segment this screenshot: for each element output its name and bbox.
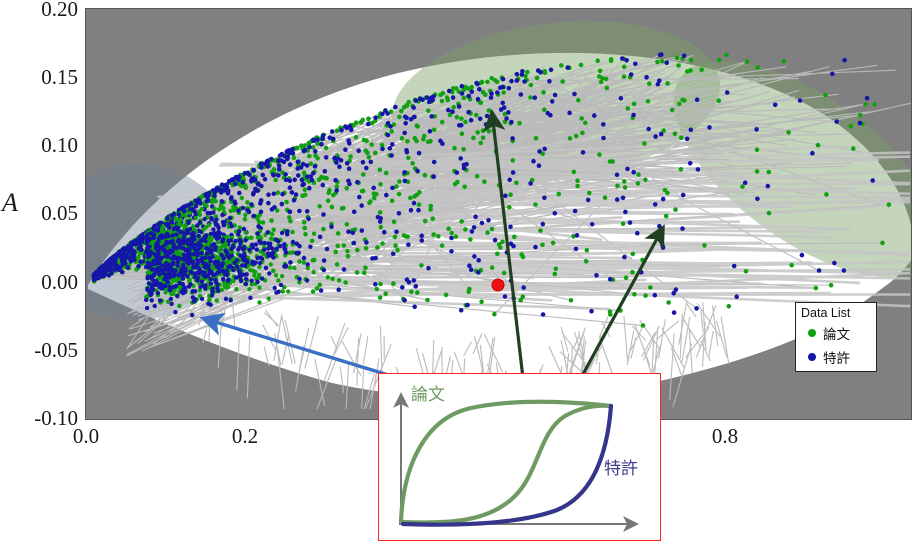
highlight-point <box>492 279 504 291</box>
y-tick-0: 0.20 <box>0 0 78 22</box>
plot-area <box>85 8 912 420</box>
x-tick-0: 0.0 <box>46 424 126 449</box>
y-tick-5: -0.05 <box>0 338 78 363</box>
legend-marker-blue <box>808 353 816 361</box>
legend-title: Data List <box>796 303 876 321</box>
legend-marker-green <box>808 329 816 337</box>
y-tick-4: 0.00 <box>0 270 78 295</box>
y-axis-label: A <box>2 188 18 218</box>
legend-item-patents[interactable]: 特許 <box>796 345 876 369</box>
inset-diagram: 論文 特許 <box>378 373 661 541</box>
x-tick-2: 0.8 <box>685 424 765 449</box>
plot-canvas <box>86 9 912 420</box>
x-tick-1: 0.2 <box>205 424 285 449</box>
legend[interactable]: Data List 論文 特許 <box>795 302 877 372</box>
legend-label-patents: 特許 <box>823 347 850 367</box>
inset-label-patents: 特許 <box>604 454 638 479</box>
legend-label-papers: 論文 <box>823 323 850 343</box>
y-tick-2: 0.10 <box>0 133 78 158</box>
y-tick-1: 0.15 <box>0 65 78 90</box>
legend-item-papers[interactable]: 論文 <box>796 321 876 345</box>
inset-label-papers: 論文 <box>411 380 445 405</box>
figure-root: 0.20 0.15 0.10 0.05 0.00 -0.05 -0.10 A 0… <box>0 0 912 540</box>
inset-curve-patent <box>403 406 611 525</box>
inset-curve-paper-bottom <box>401 406 611 523</box>
